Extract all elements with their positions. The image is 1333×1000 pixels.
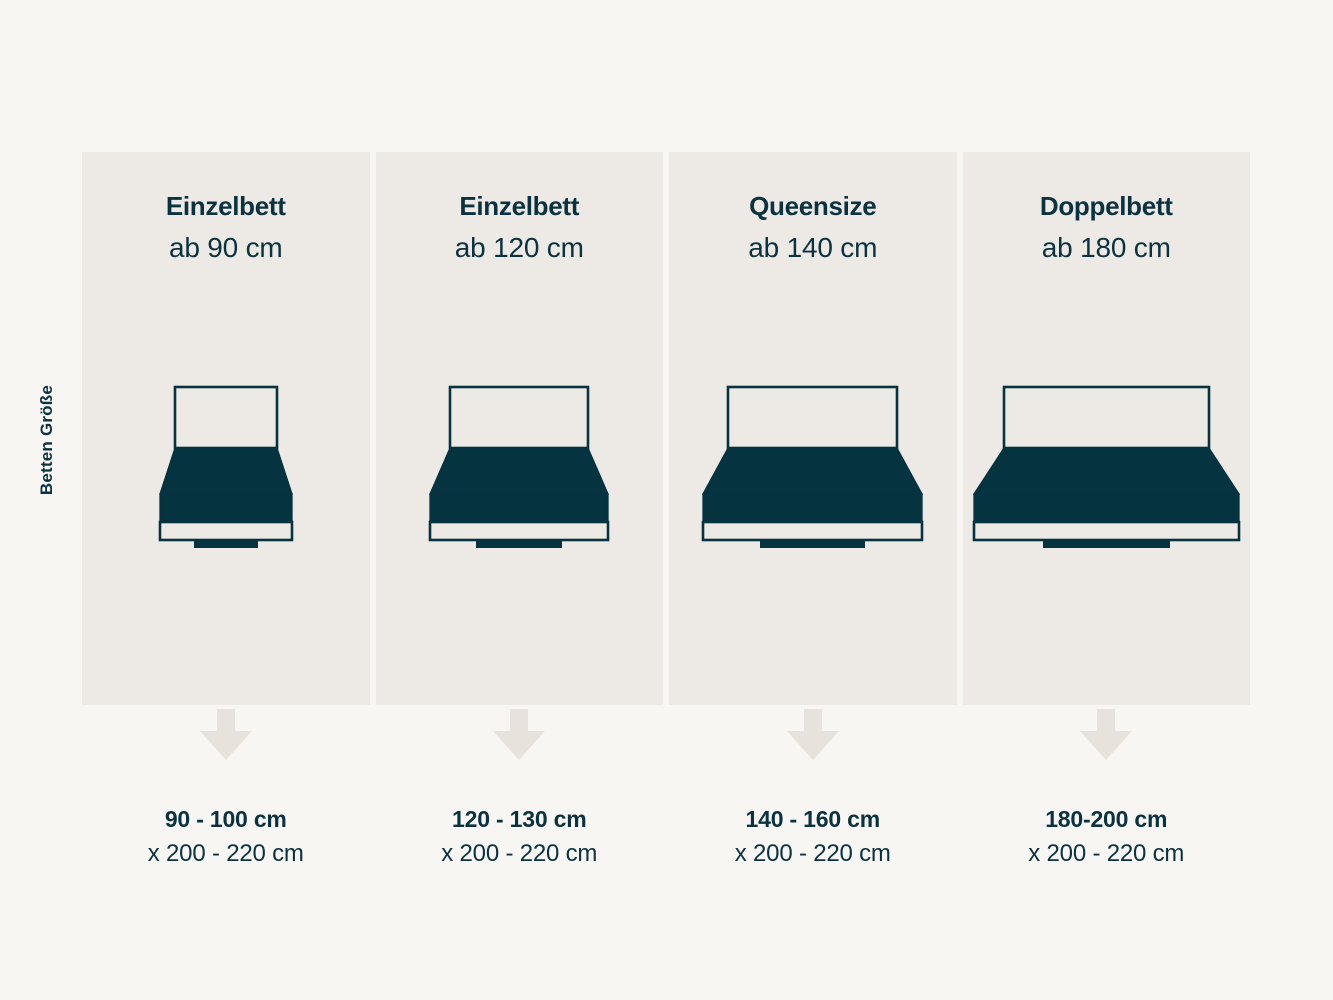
footer-column-einzelbett-120: 120 - 130 cm x 200 - 220 cm [376, 705, 664, 885]
footer-width-range: 120 - 130 cm [452, 806, 586, 832]
panel-subtitle: ab 90 cm [169, 233, 283, 264]
size-panel-einzelbett-90: Einzelbett ab 90 cm [82, 152, 370, 705]
footer-length-range: x 200 - 220 cm [1028, 840, 1184, 868]
bed-illustration-wrap [376, 370, 664, 550]
footer-column-queensize-140: 140 - 160 cm x 200 - 220 cm [669, 705, 957, 885]
bed-icon [701, 370, 924, 550]
panel-subtitle: ab 140 cm [748, 233, 877, 264]
panel-subtitle: ab 180 cm [1042, 233, 1171, 264]
size-footers: 90 - 100 cm x 200 - 220 cm 120 - 130 cm … [82, 705, 1250, 885]
bed-illustration-wrap [82, 370, 370, 550]
size-panel-queensize-140: Queensize ab 140 cm [669, 152, 957, 705]
panel-title: Einzelbett [166, 192, 286, 221]
panel-title: Doppelbett [1040, 192, 1173, 221]
footer-column-doppelbett-180: 180-200 cm x 200 - 220 cm [963, 705, 1251, 885]
arrow-down-icon [195, 709, 257, 768]
panel-title: Queensize [749, 192, 876, 221]
arrow-down-icon [1075, 709, 1137, 768]
bed-icon [428, 370, 610, 550]
size-panel-einzelbett-120: Einzelbett ab 120 cm [376, 152, 664, 705]
panel-title: Einzelbett [459, 192, 579, 221]
axis-label-betten-groesse: Betten Größe [32, 330, 62, 550]
bed-icon [972, 370, 1241, 550]
footer-column-einzelbett-90: 90 - 100 cm x 200 - 220 cm [82, 705, 370, 885]
size-columns: Einzelbett ab 90 cm Einzelbett ab 120 cm [82, 152, 1250, 705]
footer-length-range: x 200 - 220 cm [735, 840, 891, 868]
betten-groesse-infographic: Betten Größe Einzelbett ab 90 cm Einzelb… [0, 0, 1333, 1000]
bed-icon [158, 370, 294, 550]
panel-subtitle: ab 120 cm [455, 233, 584, 264]
footer-width-range: 140 - 160 cm [746, 806, 880, 832]
footer-length-range: x 200 - 220 cm [441, 840, 597, 868]
footer-length-range: x 200 - 220 cm [148, 840, 304, 868]
footer-width-range: 90 - 100 cm [165, 806, 287, 832]
bed-illustration-wrap [963, 370, 1251, 550]
bed-illustration-wrap [669, 370, 957, 550]
footer-width-range: 180-200 cm [1045, 806, 1167, 832]
arrow-down-icon [782, 709, 844, 768]
arrow-down-icon [488, 709, 550, 768]
axis-label-text: Betten Größe [37, 385, 57, 495]
size-panel-doppelbett-180: Doppelbett ab 180 cm [963, 152, 1251, 705]
